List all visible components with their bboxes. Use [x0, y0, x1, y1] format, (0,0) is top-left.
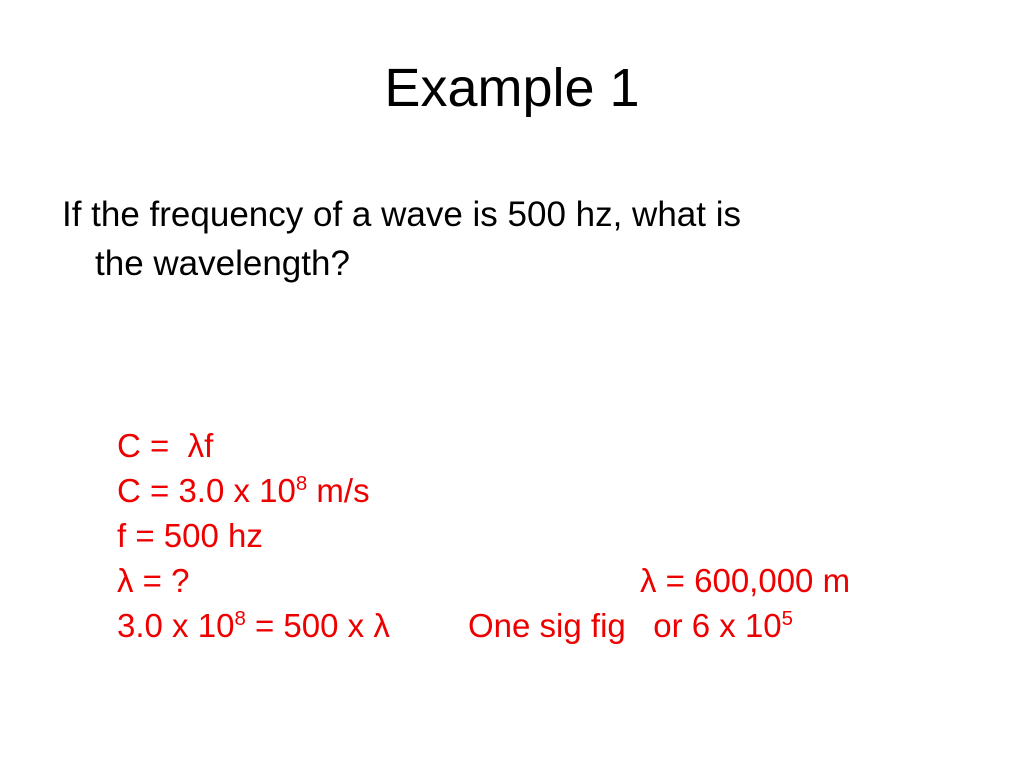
slide-canvas: Example 1 If the frequency of a wave is … — [0, 0, 1024, 768]
wavelength-answer: λ = 600,000 m — [640, 558, 850, 603]
solution-line-wavelength-unknown: λ = ? — [62, 513, 1002, 558]
solution-line-sigfig: One sig fig or 6 x 105 — [62, 603, 1002, 648]
solution-body: C = λf C = 3.0 x 108 m/s f = 500 hz λ = … — [62, 378, 1002, 648]
sigfig-note: One sig fig or 6 x 105 — [468, 603, 793, 648]
question-body: If the frequency of a wave is 500 hz, wh… — [62, 190, 962, 288]
solution-line-speed-of-light: C = 3.0 x 108 m/s — [62, 423, 1002, 468]
sigfig-note-exponent: 5 — [782, 607, 793, 630]
question-line-1: If the frequency of a wave is 500 hz, wh… — [62, 190, 962, 239]
solution-line-equation: 3.0 x 108 = 500 x λ λ = 600,000 m — [62, 558, 1002, 603]
solution-line-frequency: f = 500 hz — [62, 468, 1002, 513]
sigfig-note-text: One sig fig or 6 x 10 — [468, 607, 782, 644]
question-line-2: the wavelength? — [62, 239, 962, 288]
page-title: Example 1 — [0, 56, 1024, 120]
solution-line-formula: C = λf — [62, 378, 1002, 423]
